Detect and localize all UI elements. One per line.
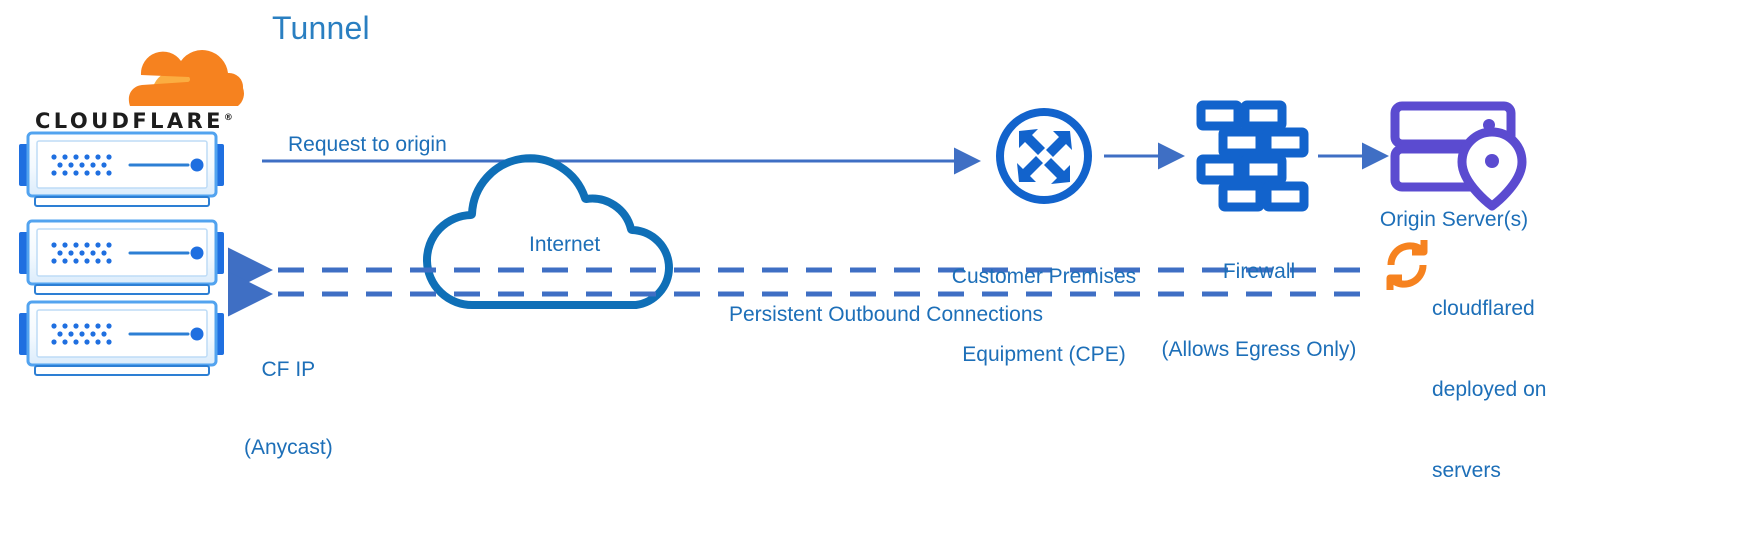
cloudflare-wordmark: CLOUDFLARE® [35, 109, 233, 133]
cloudflare-wordmark-text: CLOUDFLARE [35, 109, 224, 133]
cpe-label: Customer Premises Equipment (CPE) [945, 212, 1143, 420]
cf-ip-anycast-label: CF IP (Anycast) [244, 305, 333, 513]
cloudflared-annotation: cloudflared deployed on servers [1432, 241, 1546, 538]
firewall-label: Firewall (Allows Egress Only) [1155, 207, 1363, 415]
origin-server-label: Origin Server(s) [1375, 207, 1533, 233]
cloudflared-line-1: cloudflared [1432, 295, 1546, 322]
cloudflared-line-3: servers [1432, 457, 1546, 484]
firewall-label-line-1: Firewall [1155, 259, 1363, 285]
cloudflared-line-2: deployed on [1432, 376, 1546, 403]
firewall-label-line-2: (Allows Egress Only) [1155, 337, 1363, 363]
internet-label: Internet [529, 232, 600, 258]
diagram-text-layer: Tunnel CLOUDFLARE® Request to origin Int… [0, 0, 1754, 422]
cf-ip-line-1: CF IP [244, 357, 333, 383]
cpe-label-line-1: Customer Premises [945, 264, 1143, 290]
cpe-label-line-2: Equipment (CPE) [945, 342, 1143, 368]
cf-ip-line-2: (Anycast) [244, 435, 333, 461]
tunnel-architecture-diagram: Tunnel CLOUDFLARE® Request to origin Int… [0, 0, 1754, 422]
request-to-origin-label: Request to origin [288, 132, 447, 158]
page-title: Tunnel [272, 8, 370, 48]
trademark-symbol: ® [224, 113, 233, 123]
